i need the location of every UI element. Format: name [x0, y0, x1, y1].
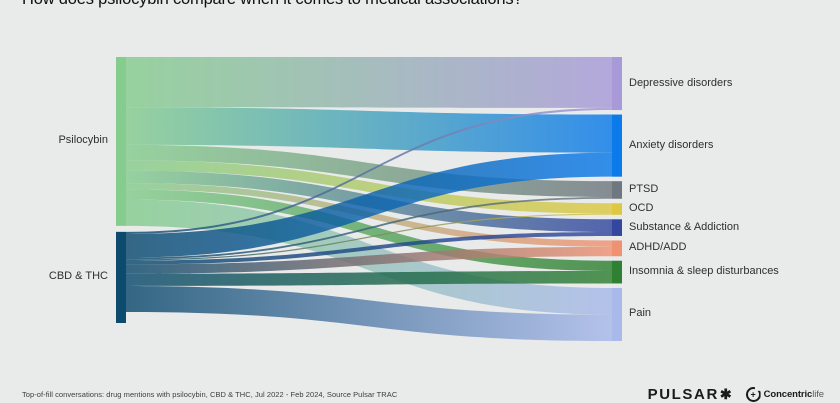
concentric-wordmark: Concentriclife [764, 389, 824, 400]
sankey-node-insomnia_sleep[interactable] [612, 261, 622, 284]
pulsar-logo: PULSAR✱ [648, 386, 732, 403]
brand-bar: PULSAR✱ Concentriclife [648, 386, 824, 403]
sankey-node-cbd_thc[interactable] [116, 232, 126, 323]
node-label-cbd_thc: CBD & THC [49, 271, 108, 282]
footnote-text: Top-of-fill conversations: drug mentions… [22, 390, 397, 399]
sankey-link-cbd_thc-to-insomnia_sleep[interactable] [126, 271, 612, 286]
node-label-psilocybin: Psilocybin [58, 135, 108, 146]
sankey-chart-root: How does psilocybin compare when it come… [0, 0, 840, 400]
sankey-node-ptsd[interactable] [612, 181, 622, 199]
node-label-adhd_add: ADHD/ADD [629, 242, 686, 253]
node-label-insomnia_sleep: Insomnia & sleep disturbances [629, 266, 779, 277]
node-label-pain: Pain [629, 308, 651, 319]
sankey-node-psilocybin[interactable] [116, 57, 126, 226]
sankey-node-anxiety_disorders[interactable] [612, 115, 622, 177]
node-label-substance_addiction: Substance & Addiction [629, 222, 739, 233]
pulsar-wordmark: PULSAR [648, 386, 719, 403]
sankey-node-ocd[interactable] [612, 203, 622, 215]
sankey-node-depressive_disorders[interactable] [612, 57, 622, 110]
sankey-node-adhd_add[interactable] [612, 240, 622, 256]
node-label-anxiety_disorders: Anxiety disorders [629, 140, 713, 151]
pulsar-star-icon: ✱ [720, 386, 732, 403]
node-label-ptsd: PTSD [629, 184, 658, 195]
sankey-links-layer [126, 57, 612, 341]
sankey-node-substance_addiction[interactable] [612, 219, 622, 236]
sankey-diagram [0, 0, 840, 400]
concentric-wordmark-light: life [812, 389, 824, 400]
node-label-ocd: OCD [629, 203, 653, 214]
sankey-node-pain[interactable] [612, 288, 622, 341]
sankey-link-psilocybin-to-depressive_disorders[interactable] [126, 57, 612, 108]
node-label-depressive_disorders: Depressive disorders [629, 78, 732, 89]
concentric-wordmark-bold: Concentric [764, 389, 813, 400]
